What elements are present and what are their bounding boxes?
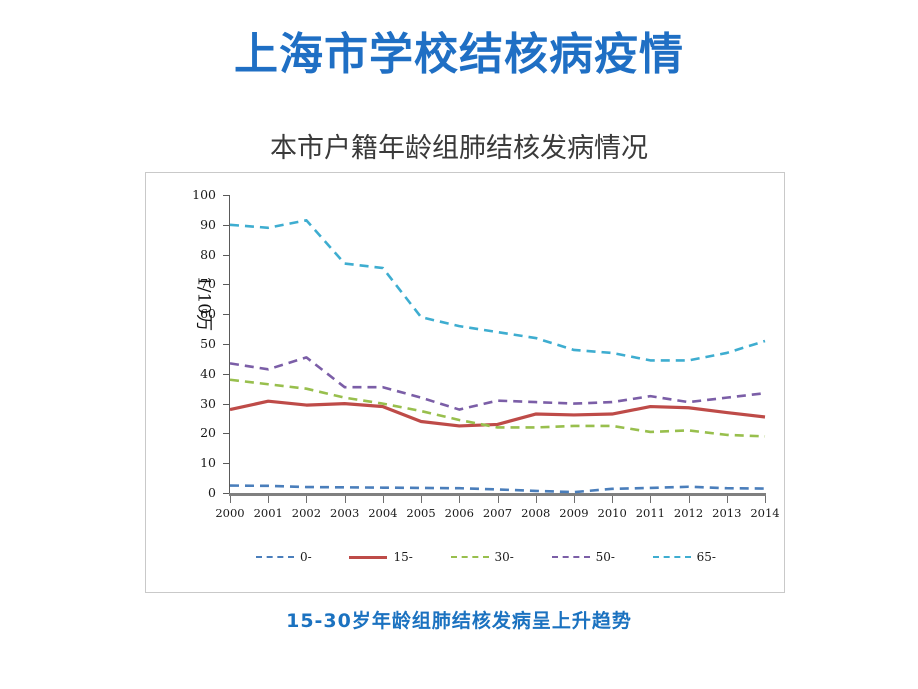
y-axis-line — [229, 195, 230, 494]
x-tick-mark — [650, 496, 651, 503]
series-line-50 — [230, 357, 765, 409]
y-tick-label: 100 — [182, 187, 216, 202]
summary-caption: 15-30岁年龄组肺结核发病呈上升趋势 — [0, 606, 918, 633]
y-tick-mark — [223, 374, 229, 375]
x-tick-mark — [612, 496, 613, 503]
y-tick-mark — [223, 284, 229, 285]
y-tick-mark — [223, 433, 229, 434]
x-tick-mark — [383, 496, 384, 503]
legend-item-0[interactable]: 0- — [256, 551, 312, 563]
y-tick-mark — [223, 195, 229, 196]
series-line-0 — [230, 486, 765, 493]
series-line-15 — [230, 401, 765, 426]
y-tick-label: 80 — [182, 247, 216, 262]
x-tick-mark — [459, 496, 460, 503]
y-tick-mark — [223, 463, 229, 464]
y-tick-label: 10 — [182, 455, 216, 470]
legend-label: 15- — [393, 551, 412, 563]
legend-swatch-icon — [552, 556, 590, 558]
legend-item-65[interactable]: 65- — [653, 551, 716, 563]
y-tick-label: 90 — [182, 217, 216, 232]
y-tick-label: 40 — [182, 366, 216, 381]
y-tick-mark — [223, 344, 229, 345]
x-tick-mark — [536, 496, 537, 503]
x-tick-mark — [727, 496, 728, 503]
series-line-65 — [230, 220, 765, 360]
series-line-30 — [230, 380, 765, 437]
chart-subtitle: 本市户籍年龄组肺结核发病情况 — [0, 126, 918, 165]
x-tick-mark — [574, 496, 575, 503]
x-tick-mark — [306, 496, 307, 503]
x-tick-mark — [421, 496, 422, 503]
y-tick-label: 20 — [182, 425, 216, 440]
y-tick-label: 50 — [182, 336, 216, 351]
chart-legend: 0-15-30-50-65- — [256, 545, 716, 569]
y-tick-mark — [223, 255, 229, 256]
x-tick-mark — [268, 496, 269, 503]
legend-item-30[interactable]: 30- — [451, 551, 514, 563]
legend-label: 65- — [697, 551, 716, 563]
x-tick-label: 2014 — [741, 506, 789, 520]
x-tick-mark — [765, 496, 766, 503]
y-tick-label: 30 — [182, 396, 216, 411]
y-tick-mark — [223, 225, 229, 226]
x-tick-mark — [689, 496, 690, 503]
legend-item-15[interactable]: 15- — [349, 551, 412, 563]
legend-swatch-icon — [653, 556, 691, 558]
y-tick-label: 70 — [182, 276, 216, 291]
x-tick-mark — [498, 496, 499, 503]
chart-series-layer — [146, 173, 786, 594]
legend-label: 0- — [300, 551, 312, 563]
y-tick-label: 0 — [182, 485, 216, 500]
page-title: 上海市学校结核病疫情 — [0, 32, 918, 78]
legend-label: 30- — [495, 551, 514, 563]
legend-swatch-icon — [451, 556, 489, 558]
x-tick-mark — [230, 496, 231, 503]
y-tick-mark — [223, 314, 229, 315]
x-tick-mark — [345, 496, 346, 503]
legend-label: 50- — [596, 551, 615, 563]
y-tick-mark — [223, 404, 229, 405]
legend-swatch-icon — [349, 556, 387, 559]
legend-item-50[interactable]: 50- — [552, 551, 615, 563]
y-tick-label: 60 — [182, 306, 216, 321]
legend-swatch-icon — [256, 556, 294, 558]
chart-container: 1/10万 0102030405060708090100 20002001200… — [145, 172, 785, 593]
